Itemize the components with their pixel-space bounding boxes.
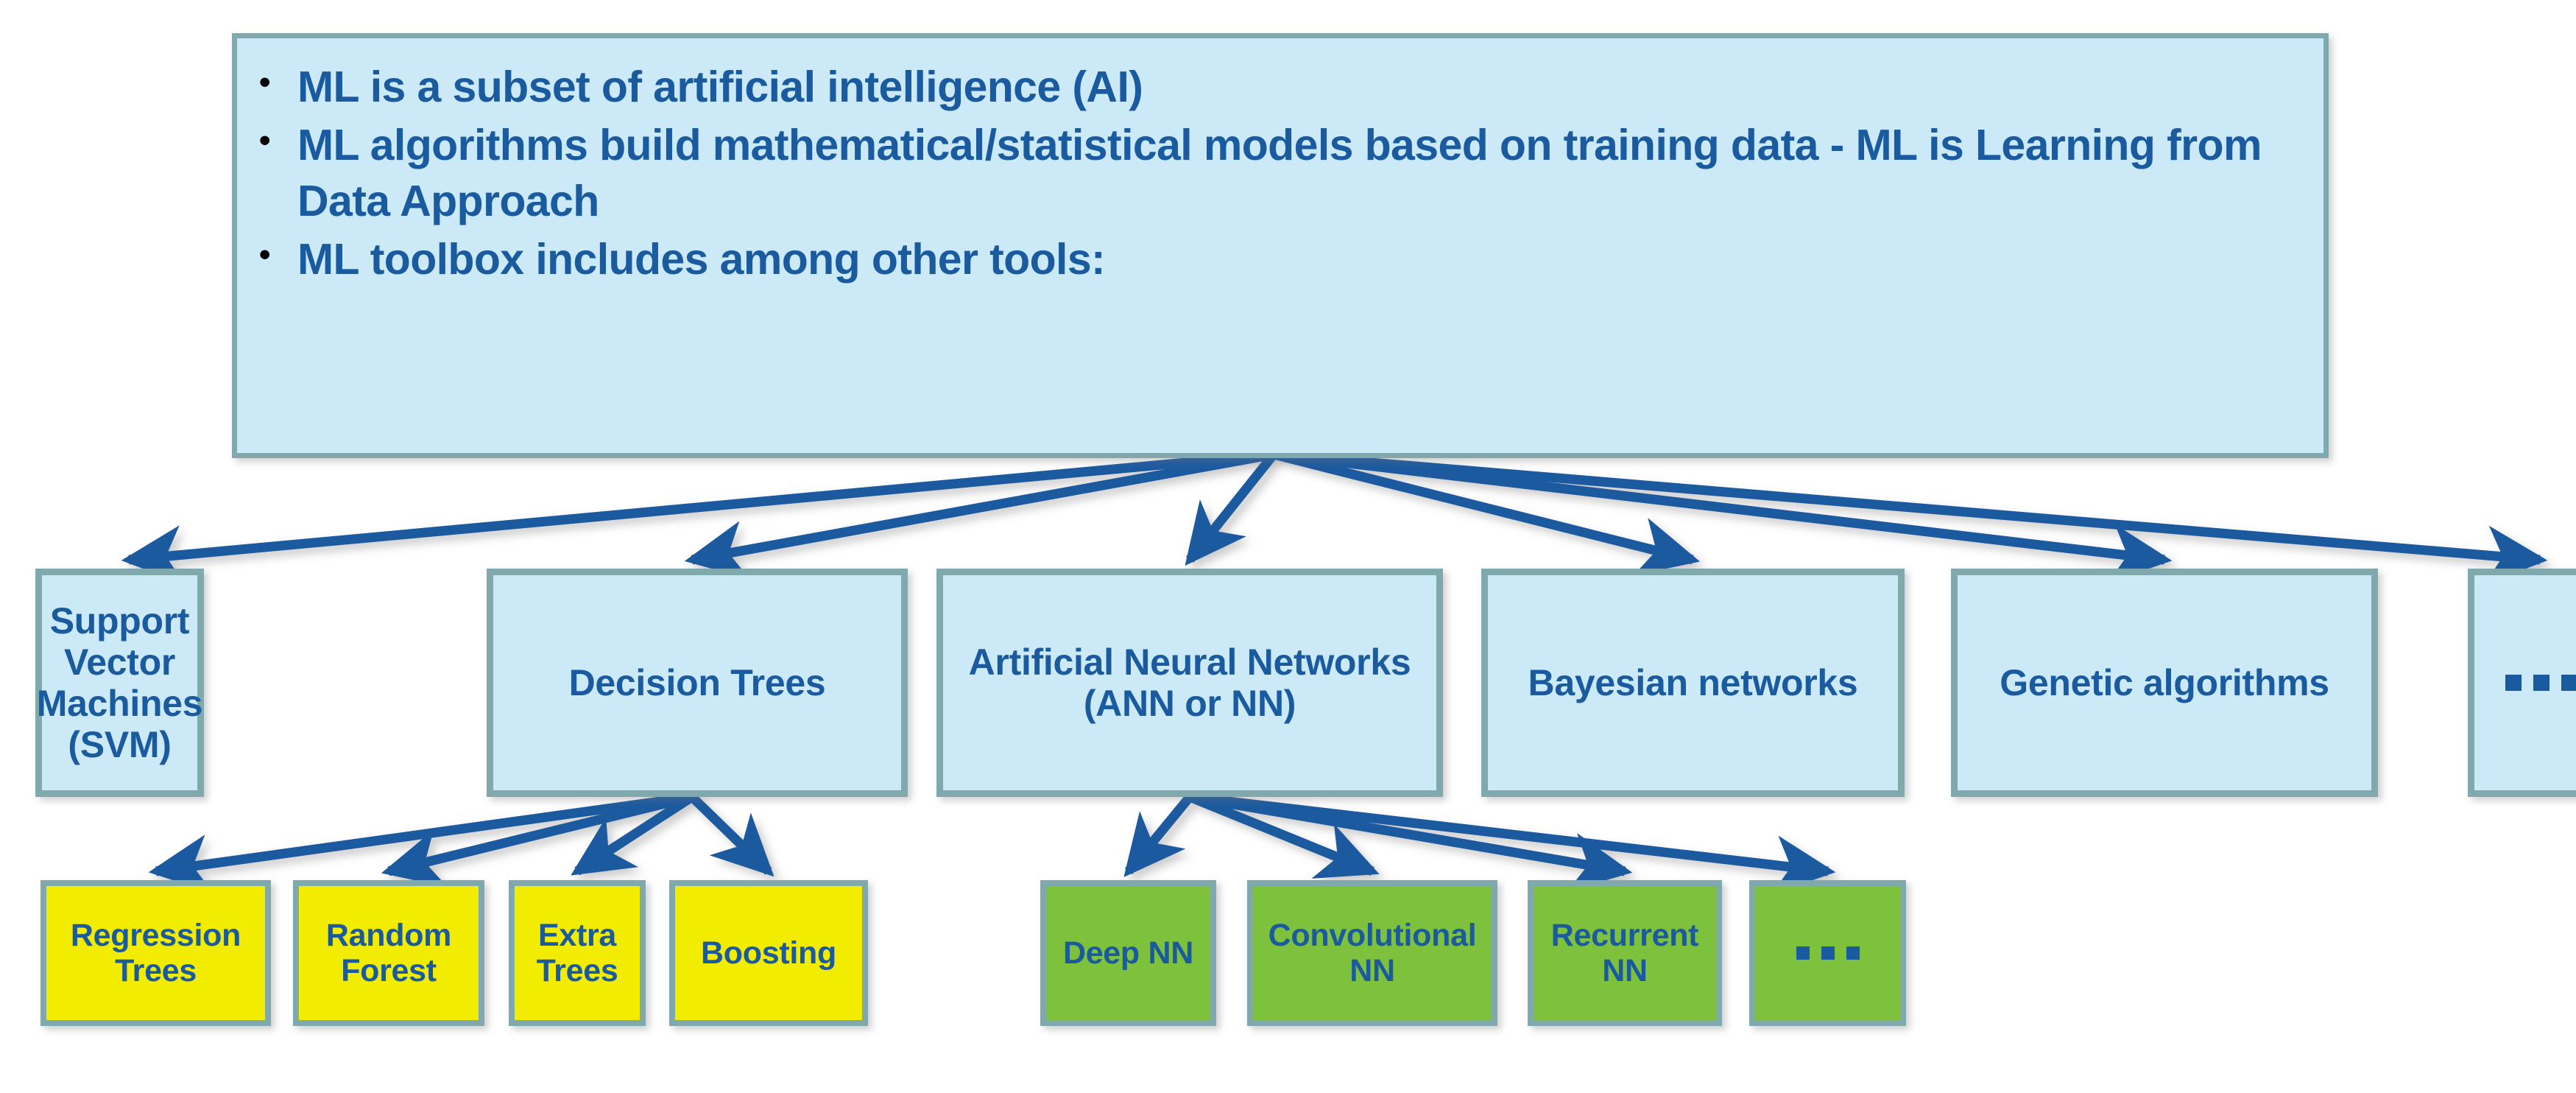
bullet-dot-icon: • (259, 117, 297, 164)
node-deep-nn[interactable]: Deep NN (1040, 880, 1216, 1026)
node-label: Regression Trees (46, 918, 265, 988)
node-support-vector-machines[interactable]: Support Vector Machines (SVM) (35, 569, 204, 797)
summary-callout-box: • ML is a subset of artificial intellige… (232, 33, 2329, 458)
node-artificial-neural-networks[interactable]: Artificial Neural Networks (ANN or NN) (936, 569, 1443, 797)
arrow-to-svm (129, 454, 1274, 560)
node-decision-trees[interactable]: Decision Trees (487, 569, 908, 797)
node-label: Support Vector Machines (SVM) (29, 600, 210, 765)
node-random-forest[interactable]: Random Forest (293, 880, 484, 1026)
node-bayesian-networks[interactable]: Bayesian networks (1481, 569, 1905, 797)
arrow-to-extra-trees (577, 797, 692, 871)
node-regression-trees[interactable]: Regression Trees (40, 880, 271, 1026)
arrow-to-more-level2 (1274, 454, 2540, 560)
node-label: Deep NN (1056, 935, 1201, 971)
node-boosting[interactable]: Boosting (669, 880, 868, 1026)
arrow-to-recurrent-nn (1190, 797, 1625, 871)
bullet-item: • ML toolbox includes among other tools: (259, 231, 2301, 288)
arrow-to-more-level3 (1190, 797, 1828, 871)
node-label: Extra Trees (515, 918, 640, 988)
arrow-to-regression-trees (156, 797, 692, 871)
bullet-item: • ML is a subset of artificial intellige… (259, 59, 2301, 116)
bullet-list: • ML is a subset of artificial intellige… (259, 59, 2301, 289)
node-more-level2[interactable] (2468, 569, 2576, 797)
node-extra-trees[interactable]: Extra Trees (509, 880, 646, 1026)
node-label: Recurrent NN (1534, 918, 1716, 988)
arrow-to-decision-trees (692, 454, 1274, 560)
node-label: Genetic algorithms (1992, 662, 2336, 703)
node-label: Random Forest (299, 918, 479, 988)
ellipsis-icon (1796, 946, 1860, 960)
node-label: Convolutional NN (1253, 918, 1492, 988)
arrow-to-bayesian (1274, 454, 1693, 560)
node-label: Boosting (694, 935, 844, 971)
arrow-to-deep-nn (1129, 797, 1190, 871)
bullet-text: ML algorithms build mathematical/statist… (297, 117, 2301, 230)
node-label: Decision Trees (562, 662, 833, 703)
bullet-text: ML toolbox includes among other tools: (297, 231, 2301, 288)
node-label: Bayesian networks (1521, 662, 1866, 703)
arrow-to-ann (1190, 454, 1274, 560)
arrow-to-boosting (692, 797, 769, 871)
diagram-canvas: • ML is a subset of artificial intellige… (0, 0, 2576, 1093)
node-genetic-algorithms[interactable]: Genetic algorithms (1951, 569, 2378, 797)
node-label: Artificial Neural Networks (ANN or NN) (943, 642, 1436, 724)
node-recurrent-nn[interactable]: Recurrent NN (1528, 880, 1722, 1026)
node-more-level3[interactable] (1749, 880, 1906, 1026)
bullet-dot-icon: • (259, 59, 297, 106)
arrow-to-convolutional-nn (1190, 797, 1372, 871)
bullet-text: ML is a subset of artificial intelligenc… (297, 59, 2301, 116)
arrow-to-random-forest (389, 797, 692, 871)
node-convolutional-nn[interactable]: Convolutional NN (1247, 880, 1497, 1026)
bullet-item: • ML algorithms build mathematical/stati… (259, 117, 2301, 230)
arrow-to-genetic (1274, 454, 2164, 560)
bullet-dot-icon: • (259, 231, 297, 278)
ellipsis-icon (2505, 675, 2576, 691)
